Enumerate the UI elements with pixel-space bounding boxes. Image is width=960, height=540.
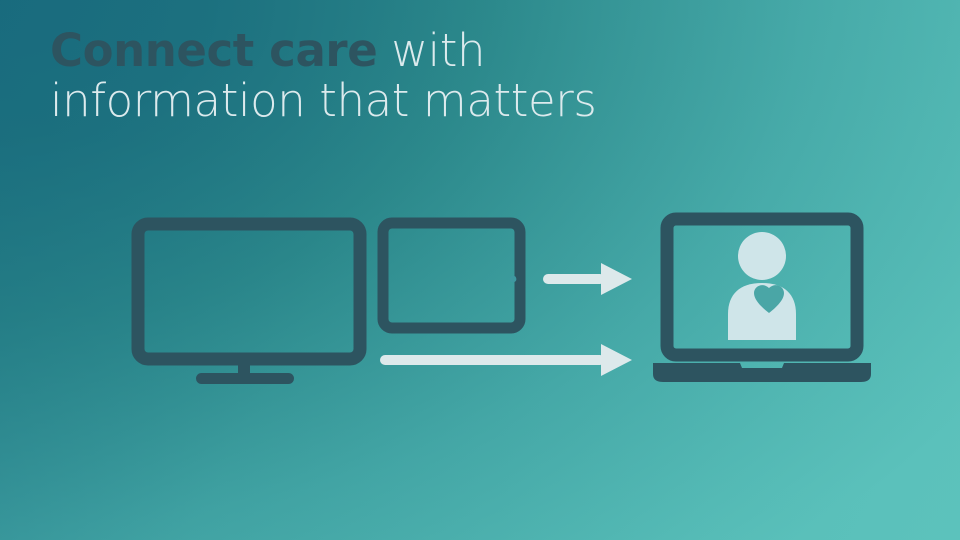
patient-avatar-icon	[728, 232, 796, 340]
monitor-stand-base	[196, 373, 294, 384]
tablet-bezel	[383, 223, 520, 328]
arrow-bottom-shaft	[380, 355, 605, 365]
arrow-top	[543, 263, 632, 295]
tablet-icon	[383, 223, 520, 328]
arrow-top-shaft	[543, 274, 605, 284]
illustration-svg	[0, 0, 960, 540]
slide-canvas: Connect care with information that matte…	[0, 0, 960, 540]
laptop-base	[653, 363, 871, 382]
monitor-bezel	[138, 224, 360, 359]
arrow-top-head	[601, 263, 632, 295]
tablet-home-button-icon	[510, 276, 517, 283]
avatar-head	[738, 232, 786, 280]
laptop-icon	[653, 219, 871, 382]
arrow-bottom-head	[601, 344, 632, 376]
desktop-monitor-icon	[138, 224, 360, 384]
arrow-bottom	[380, 344, 632, 376]
device-illustration	[0, 0, 960, 540]
